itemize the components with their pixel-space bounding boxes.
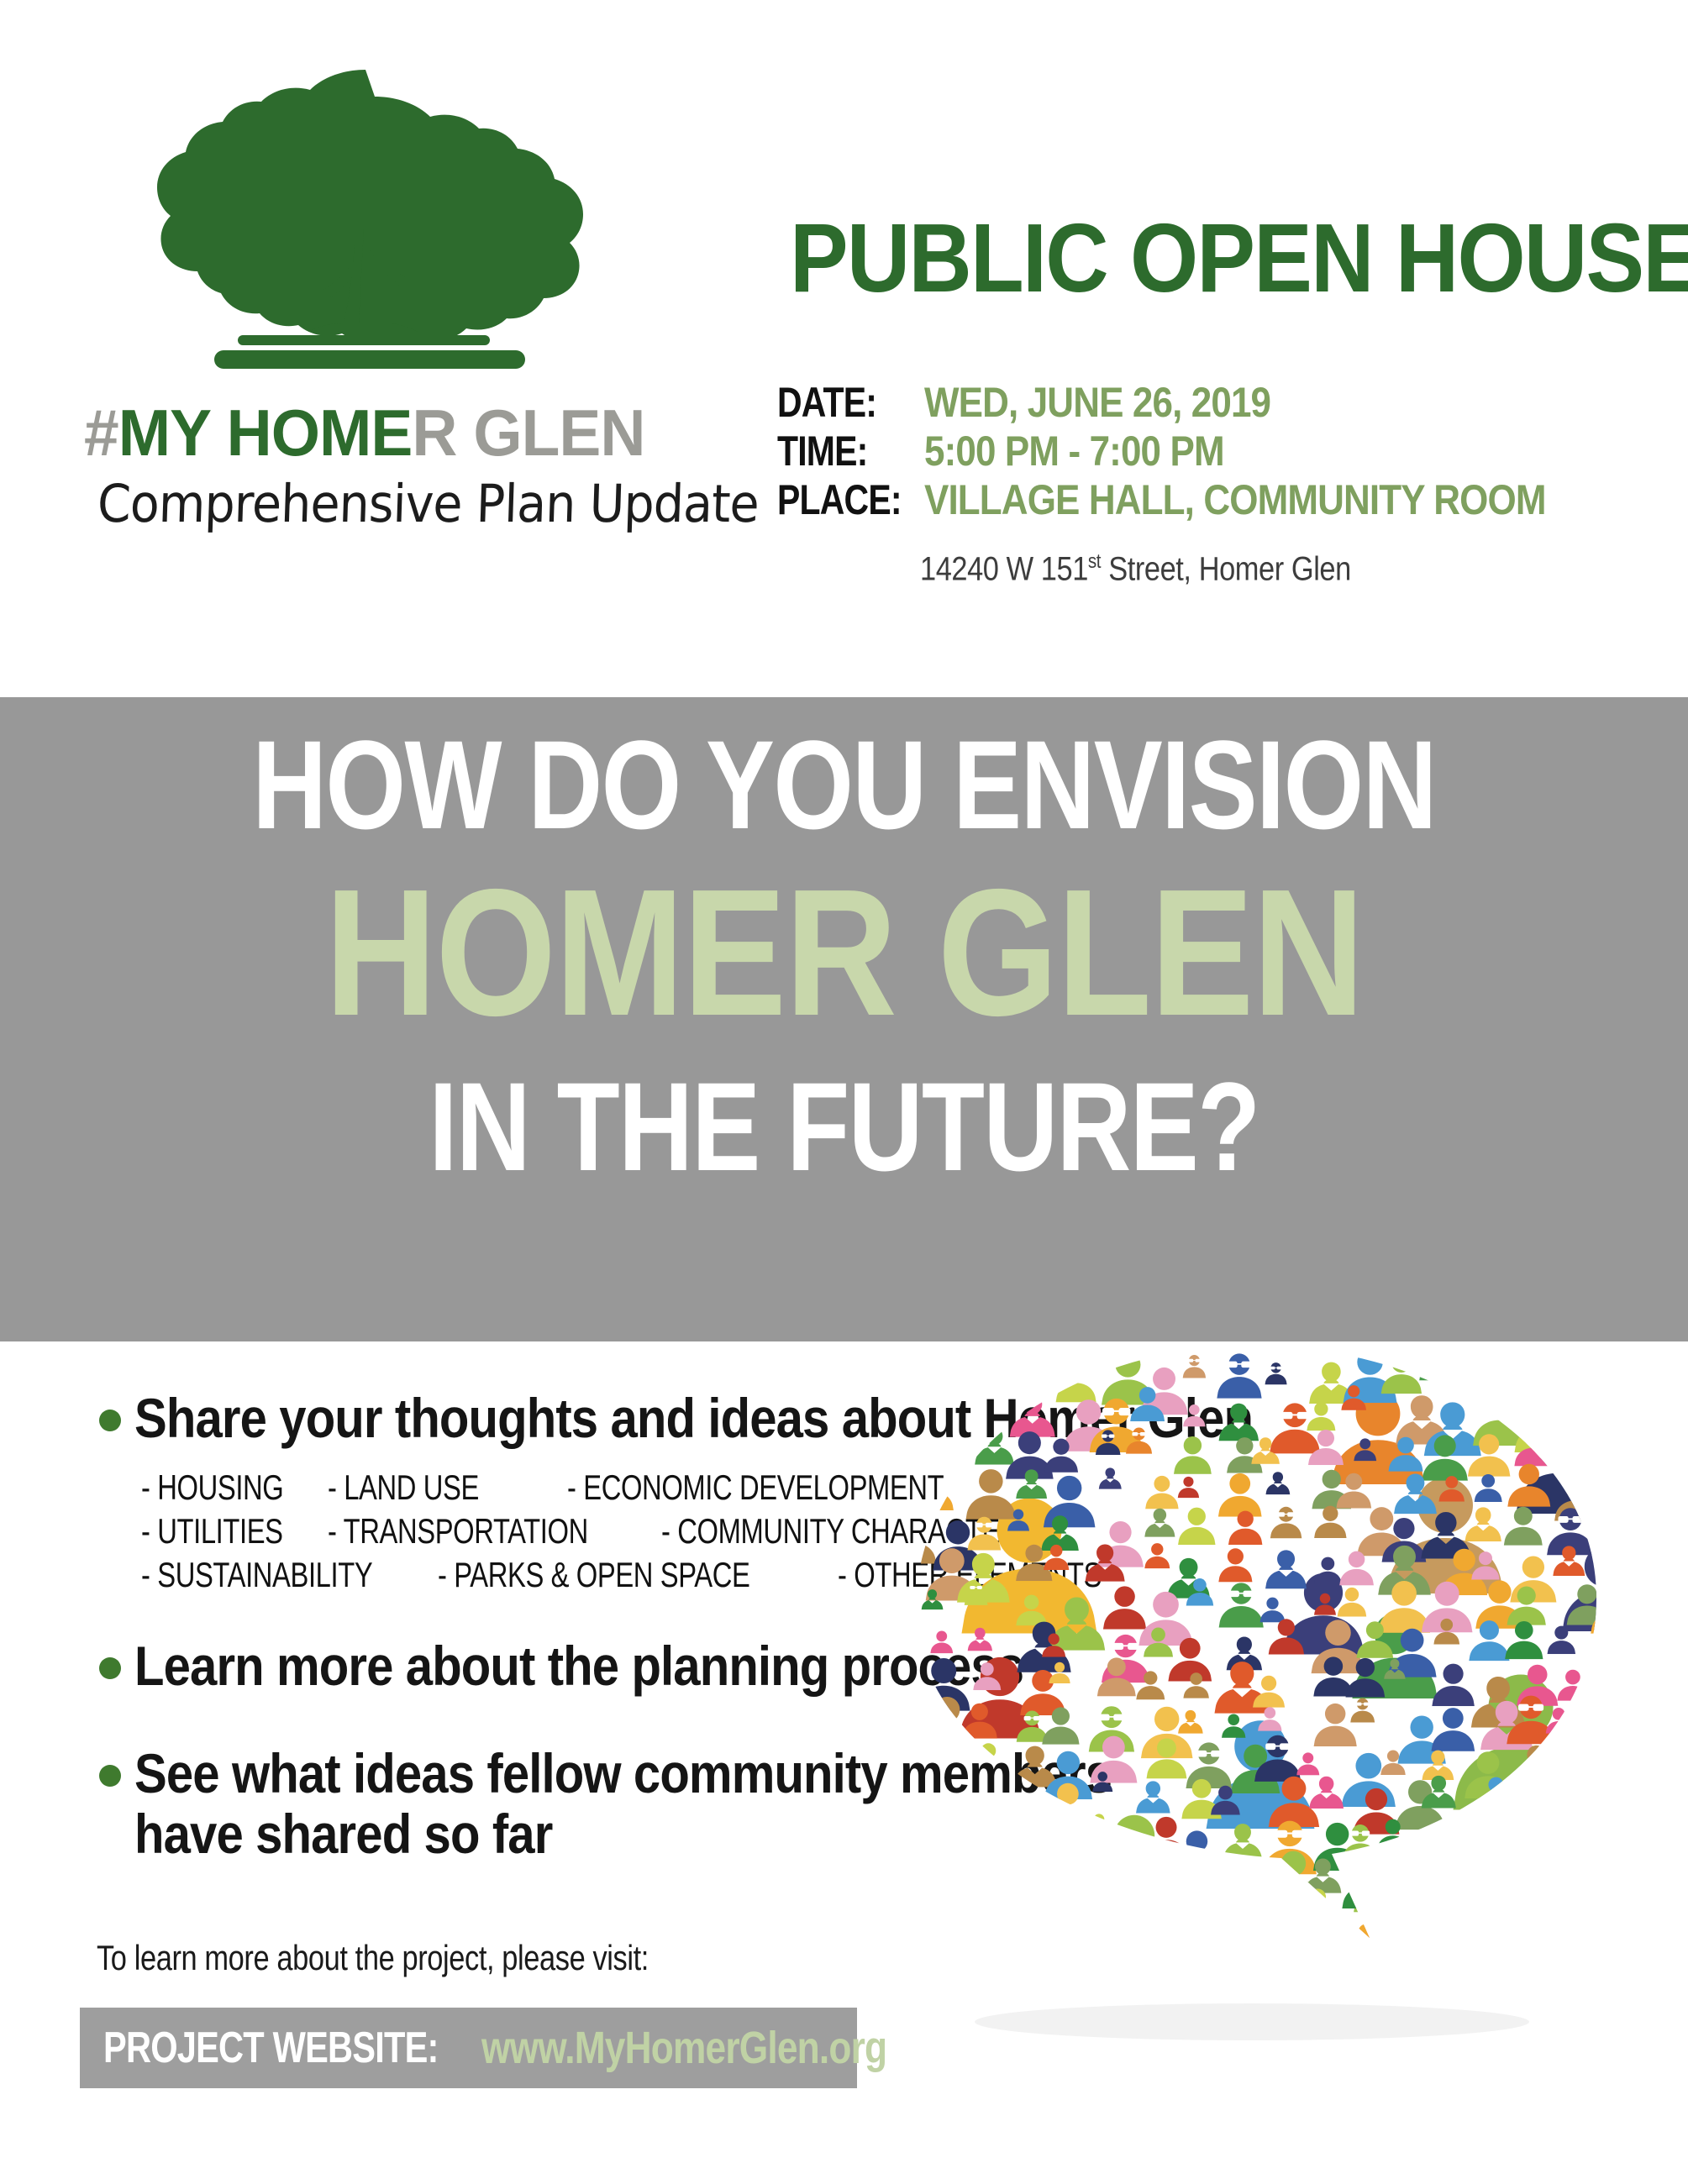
detail-value-time: 5:00 PM - 7:00 PM bbox=[924, 427, 1224, 475]
topic-parks-open-space: - PARKS & OPEN SPACE bbox=[438, 1555, 749, 1595]
project-website-label: PROJECT WEBSITE: bbox=[103, 2023, 439, 2073]
project-website-url[interactable]: www.MyHomerGlen.org bbox=[481, 2022, 886, 2074]
topic-housing: - HOUSING bbox=[141, 1467, 287, 1508]
topic-transportation: - TRANSPORTATION bbox=[328, 1511, 588, 1551]
topic-row: - HOUSING - LAND USE - ECONOMIC DEVELOPM… bbox=[141, 1467, 864, 1511]
people-speech-bubble-illustration bbox=[857, 1333, 1664, 2072]
venue-address: 14240 W 151st Street, Homer Glen bbox=[920, 550, 1351, 588]
topic-row: - UTILITIES - TRANSPORTATION - COMMUNITY… bbox=[141, 1511, 864, 1555]
content-section: Share your thoughts and ideas about Home… bbox=[0, 1341, 1688, 2184]
logo-wordmark-hash: # bbox=[84, 396, 118, 470]
topic-list: - HOUSING - LAND USE - ECONOMIC DEVELOPM… bbox=[141, 1467, 864, 1599]
bullet-dot-icon bbox=[99, 1657, 121, 1679]
detail-value-date: WED, JUNE 26, 2019 bbox=[924, 378, 1270, 427]
address-ordinal-suffix: st bbox=[1088, 550, 1101, 573]
topic-land-use: - LAND USE bbox=[328, 1467, 514, 1508]
project-website-bar[interactable]: PROJECT WEBSITE: www.MyHomerGlen.org bbox=[80, 2008, 857, 2088]
bullet-dot-icon bbox=[99, 1410, 121, 1431]
banner-line-1: HOW DO YOU ENVISION bbox=[152, 712, 1536, 858]
bubble-shadow bbox=[975, 2003, 1529, 2040]
logo-wordmark-myhome: MY HOME bbox=[118, 396, 413, 470]
page-title: PUBLIC OPEN HOUSE bbox=[790, 202, 1688, 314]
detail-label-time: TIME: bbox=[777, 427, 898, 475]
banner-line-3: IN THE FUTURE? bbox=[152, 1054, 1536, 1200]
address-rest: Street, Homer Glen bbox=[1101, 550, 1351, 587]
banner-line-2: HOMER GLEN bbox=[118, 848, 1570, 1057]
project-logo: #MY HOMER GLEN Comprehensive Plan Update bbox=[84, 46, 639, 592]
brush-stroke bbox=[91, 537, 495, 582]
address-number: 14240 W 151 bbox=[920, 550, 1088, 587]
oak-tree-icon bbox=[130, 46, 601, 399]
logo-subtitle: Comprehensive Plan Update bbox=[97, 466, 609, 542]
detail-row-date: DATE: WED, JUNE 26, 2019 bbox=[777, 378, 1617, 427]
event-details: DATE: WED, JUNE 26, 2019 TIME: 5:00 PM -… bbox=[777, 378, 1617, 524]
topic-row: - SUSTAINABILITY - PARKS & OPEN SPACE - … bbox=[141, 1555, 864, 1599]
logo-wordmark-rglen: R GLEN bbox=[412, 396, 644, 470]
topic-utilities: - UTILITIES bbox=[141, 1511, 287, 1551]
topic-sustainability: - SUSTAINABILITY bbox=[141, 1555, 372, 1595]
detail-row-time: TIME: 5:00 PM - 7:00 PM bbox=[777, 427, 1617, 475]
headline-banner: HOW DO YOU ENVISION HOMER GLEN IN THE FU… bbox=[0, 697, 1688, 1341]
logo-wordmark: #MY HOMER GLEN bbox=[84, 397, 617, 469]
detail-label-date: DATE: bbox=[777, 378, 898, 427]
detail-value-place: VILLAGE HALL, COMMUNITY ROOM bbox=[924, 475, 1546, 524]
header-section: #MY HOMER GLEN Comprehensive Plan Update… bbox=[0, 0, 1688, 697]
visit-note: To learn more about the project, please … bbox=[97, 1938, 649, 1978]
detail-label-place: PLACE: bbox=[777, 475, 898, 524]
bullet-dot-icon bbox=[99, 1765, 121, 1787]
detail-row-place: PLACE: VILLAGE HALL, COMMUNITY ROOM bbox=[777, 475, 1617, 524]
